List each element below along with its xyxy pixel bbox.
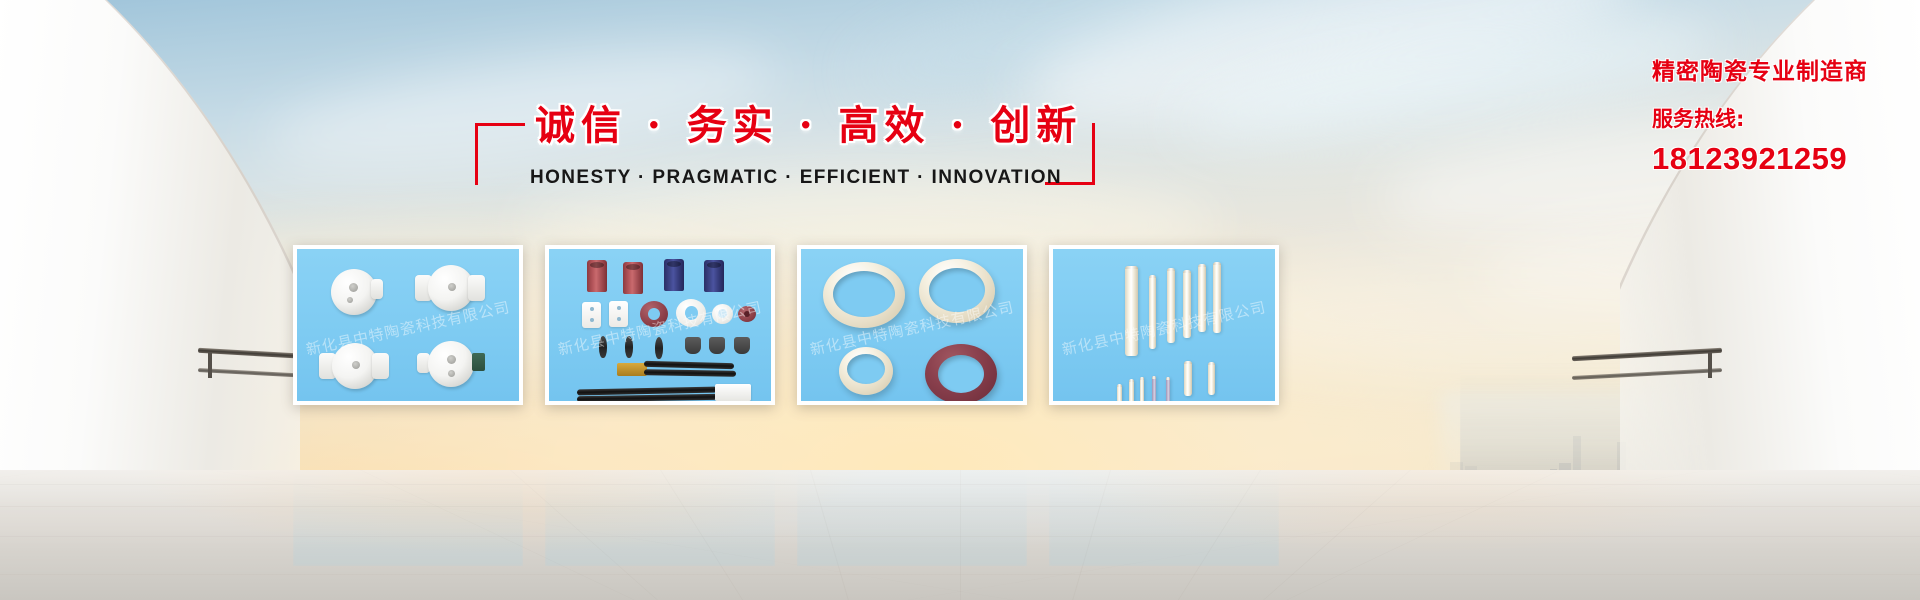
ceramic-pin — [1129, 379, 1134, 401]
panel-photo: 新化县中特陶瓷科技有限公司 — [1053, 249, 1275, 401]
product-panel-sockets[interactable]: 新化县中特陶瓷科技有限公司 — [293, 245, 523, 405]
terminal-clip — [625, 336, 633, 358]
ceramic-rod — [1149, 275, 1156, 349]
wire-lead — [644, 361, 734, 369]
ceramic-pin — [1140, 377, 1144, 401]
ceramic-rod-short — [1208, 362, 1215, 395]
seal-ring — [738, 306, 756, 322]
panel-photo: 新化县中特陶瓷科技有限公司 — [549, 249, 771, 401]
ceramic-plate — [582, 302, 601, 328]
panel-photo: 新化县中特陶瓷科技有限公司 — [801, 249, 1023, 401]
ceramic-rod-short — [1184, 361, 1192, 396]
cloud-streak — [1013, 0, 1646, 158]
promo-banner: 诚信 · 务实 · 高效 · 创新 HONESTY · PRAGMATIC · … — [0, 0, 1920, 600]
hotline-phone-number[interactable]: 18123921259 — [1652, 141, 1868, 177]
product-panel-rods[interactable]: 新化县中特陶瓷科技有限公司 — [1049, 245, 1279, 405]
ceramic-rod — [1198, 264, 1206, 332]
ceramic-ring-large — [823, 262, 905, 328]
terminal-shoe — [685, 337, 701, 354]
wire-lead — [577, 394, 717, 401]
railing-post — [1708, 352, 1712, 378]
terminal-clip — [599, 336, 607, 358]
contact-block: 精密陶瓷专业制造商 服务热线: 18123921259 — [1652, 52, 1868, 177]
product-panel-components[interactable]: 新化县中特陶瓷科技有限公司 — [545, 245, 775, 405]
ceramic-cap — [587, 260, 607, 292]
terminal-shoe — [709, 337, 725, 354]
hotline-label: 服务热线: — [1652, 103, 1868, 133]
slogan-chinese: 诚信 · 务实 · 高效 · 创新 — [535, 105, 1035, 147]
ceramic-rod — [1213, 262, 1221, 333]
tiled-floor — [0, 470, 1920, 600]
wire-lead — [644, 369, 736, 377]
ceramic-ring-plum — [925, 344, 997, 401]
panel-photo: 新化县中特陶瓷科技有限公司 — [297, 249, 519, 401]
watermark-text: 新化县中特陶瓷科技有限公司 — [1060, 296, 1268, 360]
company-tagline: 精密陶瓷专业制造商 — [1652, 52, 1868, 86]
product-panel-rings[interactable]: 新化县中特陶瓷科技有限公司 — [797, 245, 1027, 405]
railing-post — [208, 352, 212, 378]
bracket-top-left — [475, 123, 525, 185]
ceramic-cap — [704, 260, 724, 292]
ceramic-pin — [1166, 377, 1170, 401]
seal-ring — [640, 301, 668, 327]
wire-connector — [715, 384, 751, 401]
ceramic-cap — [623, 262, 643, 294]
ceramic-pin — [1152, 376, 1156, 401]
ceramic-bush — [676, 299, 706, 327]
ceramic-rod — [1183, 270, 1191, 338]
slogan-block: 诚信 · 务实 · 高效 · 创新 HONESTY · PRAGMATIC · … — [475, 105, 1095, 200]
ceramic-pin — [1117, 384, 1122, 401]
floor-gloss — [0, 470, 1920, 600]
slogan-english: HONESTY · PRAGMATIC · EFFICIENT · INNOVA… — [530, 167, 1040, 189]
ceramic-bush — [712, 304, 733, 324]
wire-terminal — [617, 363, 647, 376]
ceramic-rod — [1125, 266, 1138, 356]
ceramic-rod — [1167, 268, 1175, 343]
left-curved-building — [0, 0, 300, 470]
terminal-clip — [655, 337, 663, 359]
ceramic-ring-large — [919, 259, 995, 323]
ceramic-ring-small — [839, 347, 893, 395]
terminal-shoe — [734, 337, 750, 354]
ceramic-cap — [664, 259, 684, 291]
ceramic-plate — [609, 301, 628, 327]
